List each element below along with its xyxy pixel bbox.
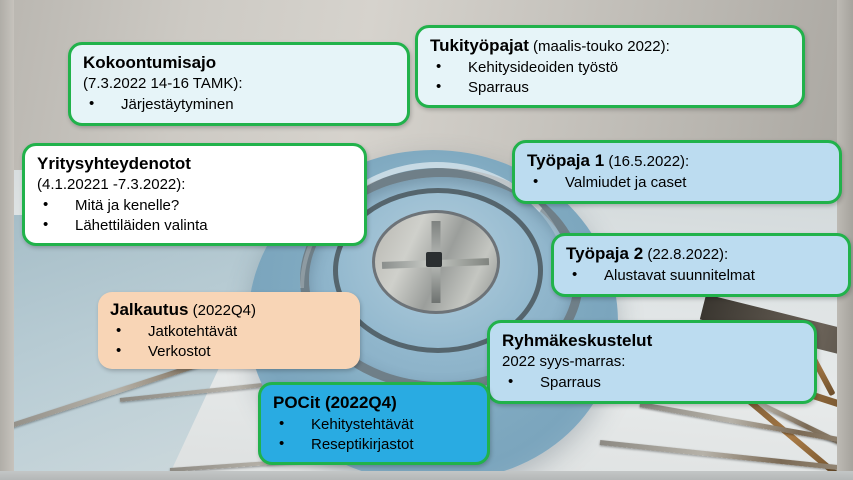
list-item: Järjestäytyminen <box>83 95 395 115</box>
callout-bullet-list: Mitä ja kenelle? Lähettiläiden valinta <box>37 196 352 236</box>
callout-heading: Tukityöpajat (maalis-touko 2022): <box>430 35 790 57</box>
list-item: Kehitysideoiden työstö <box>430 58 790 78</box>
list-item: Lähettiläiden valinta <box>37 216 352 236</box>
callout-heading: Yritysyhteydenotot <box>37 153 352 175</box>
background-left-edge <box>0 0 14 480</box>
list-item: Sparraus <box>430 78 790 98</box>
callout-bullet-list: Sparraus <box>502 373 802 393</box>
callout-subline: (4.1.20221 -7.3.2022): <box>37 176 352 195</box>
list-item: Mitä ja kenelle? <box>37 196 352 216</box>
callout-subtitle: (22.8.2022): <box>647 246 728 263</box>
stair-hub <box>372 210 500 314</box>
callout-subtitle: (16.5.2022): <box>608 153 689 170</box>
callout-title: Työpaja 2 <box>566 244 643 263</box>
list-item: Sparraus <box>502 373 802 393</box>
stair-hub-bar <box>382 258 490 269</box>
callout-jalkautus[interactable]: Jalkautus (2022Q4) Jatkotehtävät Verkost… <box>98 292 360 369</box>
callout-heading: POCit (2022Q4) <box>273 392 475 414</box>
callout-bullet-list: Järjestäytyminen <box>83 95 395 115</box>
callout-tukityopajat[interactable]: Tukityöpajat (maalis-touko 2022): Kehity… <box>415 25 805 108</box>
callout-heading: Työpaja 2 (22.8.2022): <box>566 243 836 265</box>
callout-bullet-list: Kehitysideoiden työstö Sparraus <box>430 58 790 98</box>
callout-tyopaja-2[interactable]: Työpaja 2 (22.8.2022): Alustavat suunnit… <box>551 233 851 297</box>
callout-tyopaja-1[interactable]: Työpaja 1 (16.5.2022): Valmiudet ja case… <box>512 140 842 204</box>
callout-subline: 2022 syys-marras: <box>502 353 802 372</box>
list-item: Valmiudet ja caset <box>527 173 827 193</box>
callout-title: Yritysyhteydenotot <box>37 154 191 173</box>
list-item: Jatkotehtävät <box>110 322 348 342</box>
callout-heading: Jalkautus (2022Q4) <box>110 299 348 321</box>
callout-heading: Ryhmäkeskustelut <box>502 330 802 352</box>
list-item: Reseptikirjastot <box>273 435 475 455</box>
callout-subtitle: (maalis-touko 2022): <box>533 38 670 55</box>
callout-heading: Työpaja 1 (16.5.2022): <box>527 150 827 172</box>
callout-title: Jalkautus <box>110 300 188 319</box>
callout-bullet-list: Kehitystehtävät Reseptikirjastot <box>273 415 475 455</box>
callout-bullet-list: Alustavat suunnitelmat <box>566 266 836 286</box>
list-item: Verkostot <box>110 342 348 362</box>
callout-bullet-list: Jatkotehtävät Verkostot <box>110 322 348 362</box>
callout-subline: (7.3.2022 14-16 TAMK): <box>83 75 395 94</box>
list-item: Alustavat suunnitelmat <box>566 266 836 286</box>
callout-subtitle: (2022Q4) <box>193 302 256 319</box>
callout-ryhmakeskustelut[interactable]: Ryhmäkeskustelut 2022 syys-marras: Sparr… <box>487 320 817 404</box>
callout-title: Ryhmäkeskustelut <box>502 331 652 350</box>
callout-yritysyhteydenotot[interactable]: Yritysyhteydenotot (4.1.20221 -7.3.2022)… <box>22 143 367 246</box>
slide-canvas: Kokoontumisajo (7.3.2022 14-16 TAMK): Jä… <box>0 0 853 480</box>
list-item: Kehitystehtävät <box>273 415 475 435</box>
callout-title: Kokoontumisajo <box>83 53 216 72</box>
callout-title: Työpaja 1 <box>527 151 604 170</box>
callout-heading: Kokoontumisajo <box>83 52 395 74</box>
callout-title: Tukityöpajat <box>430 36 529 55</box>
background-bottom-strip <box>0 471 853 480</box>
callout-pocit[interactable]: POCit (2022Q4) Kehitystehtävät Reseptiki… <box>258 382 490 465</box>
callout-kokoontumisajo[interactable]: Kokoontumisajo (7.3.2022 14-16 TAMK): Jä… <box>68 42 410 126</box>
callout-title: POCit (2022Q4) <box>273 393 397 412</box>
callout-bullet-list: Valmiudet ja caset <box>527 173 827 193</box>
